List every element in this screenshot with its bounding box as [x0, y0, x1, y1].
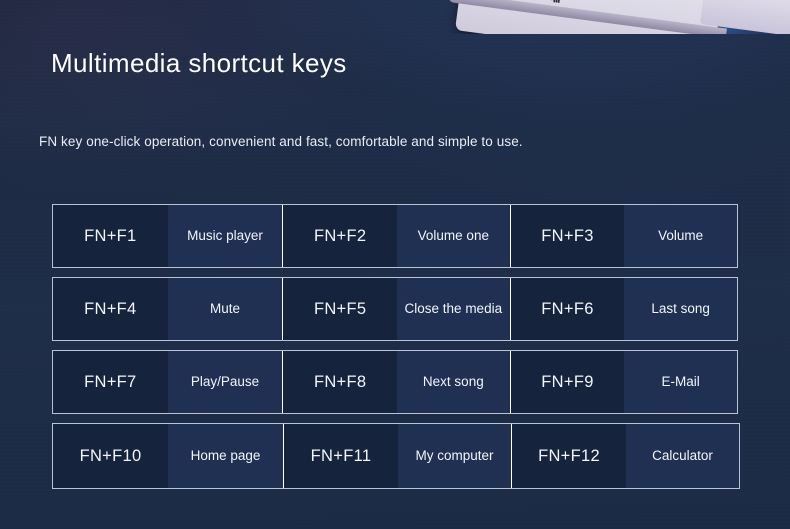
shortcut-function-cell: Calculator [626, 424, 739, 488]
page-subtitle: FN key one-click operation, convenient a… [39, 134, 523, 149]
page-root: ⊐⫼ Multimedia shortcut keys FN key one-c… [0, 0, 790, 529]
shortcut-function-cell: Mute [168, 278, 284, 340]
shortcut-function-cell: Volume [624, 205, 737, 267]
shortcut-table: FN+F1 Music player FN+F2 Volume one FN+F… [52, 204, 740, 489]
table-row: FN+F10 Home page FN+F11 My computer FN+F… [52, 423, 740, 489]
shortcut-function-cell: Last song [624, 278, 737, 340]
table-row: FN+F7 Play/Pause FN+F8 Next song FN+F9 E… [52, 350, 738, 414]
shortcut-key-cell: FN+F3 [511, 205, 625, 267]
page-title: Multimedia shortcut keys [51, 48, 347, 79]
shortcut-function-cell: Next song [397, 351, 511, 413]
shortcut-key-cell: FN+F4 [53, 278, 168, 340]
shortcut-function-cell: Home page [168, 424, 284, 488]
shortcut-function-cell: Music player [168, 205, 284, 267]
shortcut-key-cell: FN+F10 [53, 424, 168, 488]
shortcut-function-cell: Close the media [397, 278, 511, 340]
shortcut-key-cell: FN+F12 [512, 424, 626, 488]
shortcut-key-cell: FN+F8 [283, 351, 397, 413]
shortcut-function-cell: Volume one [397, 205, 511, 267]
table-row: FN+F4 Mute FN+F5 Close the media FN+F6 L… [52, 277, 738, 341]
shortcut-key-cell: FN+F2 [283, 205, 397, 267]
product-photo-strip: ⊐⫼ [0, 0, 790, 34]
shortcut-key-cell: FN+F11 [284, 424, 398, 488]
shortcut-key-cell: FN+F7 [53, 351, 168, 413]
shortcut-key-cell: FN+F5 [283, 278, 397, 340]
shortcut-key-cell: FN+F9 [511, 351, 625, 413]
shortcut-function-cell: My computer [398, 424, 512, 488]
shortcut-key-cell: FN+F1 [53, 205, 168, 267]
shortcut-key-cell: FN+F6 [511, 278, 625, 340]
table-row: FN+F1 Music player FN+F2 Volume one FN+F… [52, 204, 738, 268]
shortcut-function-cell: E-Mail [624, 351, 737, 413]
shortcut-function-cell: Play/Pause [168, 351, 284, 413]
